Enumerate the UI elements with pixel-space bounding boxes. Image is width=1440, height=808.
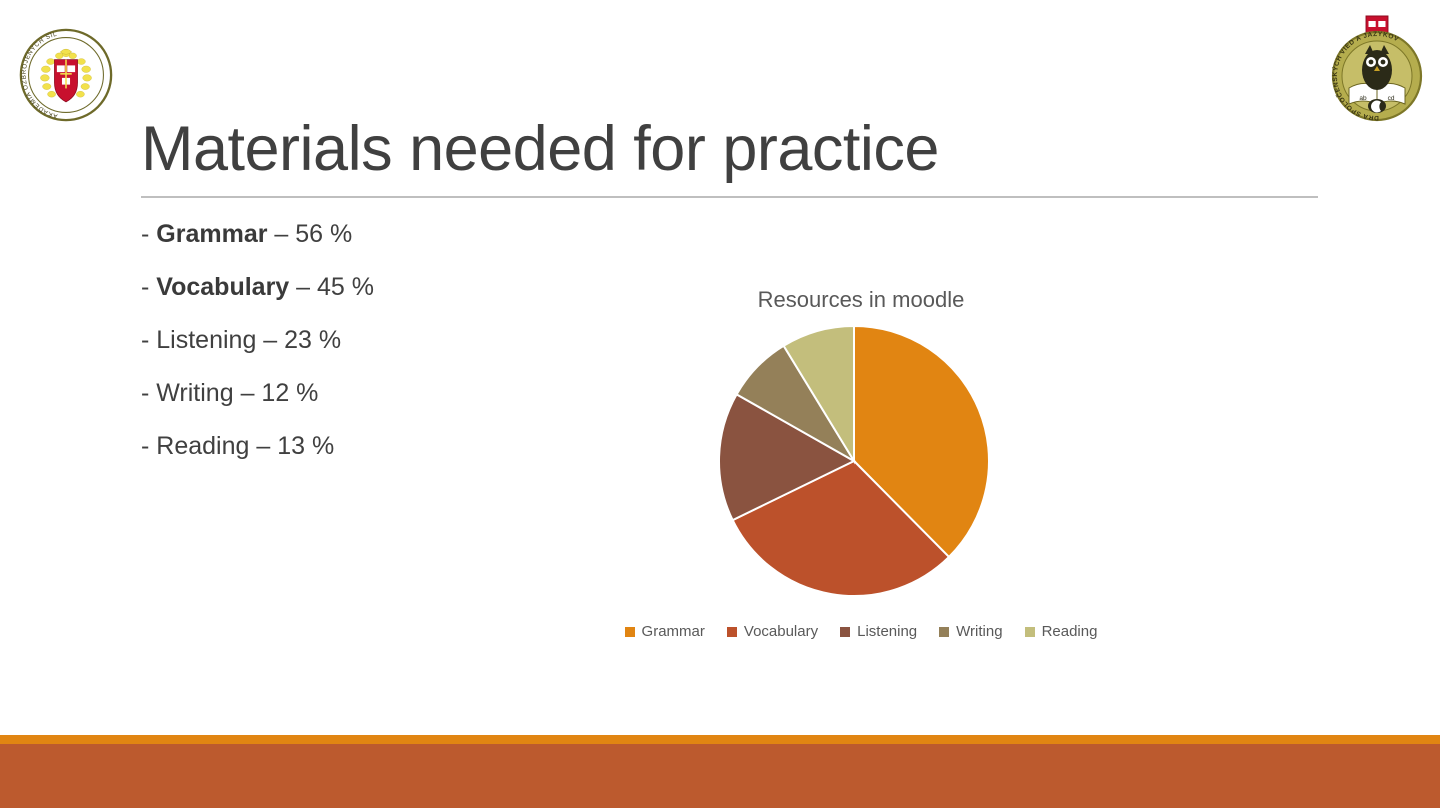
list-item-topic: Listening	[156, 326, 256, 354]
legend-swatch-icon	[840, 627, 850, 637]
pie-slices	[719, 326, 989, 596]
list-item-prefix: -	[141, 379, 156, 407]
chart-title: Resources in moodle	[612, 283, 1110, 317]
page-title: Materials needed for practice	[141, 116, 1321, 182]
list-item-value: 13 %	[277, 432, 334, 460]
list-item-topic: Reading	[156, 432, 249, 460]
armed-forces-academy-seal-logo: AKADÉMIA OZBROJENÝCH SÍL GENERÁLA MILANA…	[18, 27, 114, 123]
svg-text:ab: ab	[1359, 95, 1367, 102]
list-item-separator: –	[267, 220, 295, 248]
list-item-topic: Writing	[156, 379, 233, 407]
department-seal-logo: KATEDRA SPOLOČENSKÝCH VIED A JAZYKOV ab …	[1325, 14, 1429, 124]
footer-band	[0, 744, 1440, 808]
svg-text:cd: cd	[1388, 95, 1395, 102]
legend-swatch-icon	[625, 627, 635, 637]
list-item: - Writing – 12 %	[141, 381, 611, 406]
list-item: - Reading – 13 %	[141, 434, 611, 459]
legend-swatch-icon	[727, 627, 737, 637]
seal-right-icon: KATEDRA SPOLOČENSKÝCH VIED A JAZYKOV ab …	[1325, 14, 1429, 124]
legend-item-listening: Listening	[840, 623, 917, 640]
list-item-topic: Grammar	[156, 220, 267, 248]
footer-accent-stripe	[0, 735, 1440, 744]
legend-label: Vocabulary	[744, 623, 818, 640]
list-item-prefix: -	[141, 220, 156, 248]
list-item-separator: –	[289, 273, 317, 301]
slide: AKADÉMIA OZBROJENÝCH SÍL GENERÁLA MILANA…	[0, 0, 1440, 808]
legend-swatch-icon	[1025, 627, 1035, 637]
list-item: - Listening – 23 %	[141, 328, 611, 353]
title-block: Materials needed for practice	[141, 116, 1321, 198]
legend-swatch-icon	[939, 627, 949, 637]
legend-label: Grammar	[642, 623, 705, 640]
legend-item-vocabulary: Vocabulary	[727, 623, 818, 640]
list-item-value: 45 %	[317, 273, 374, 301]
list-item: - Vocabulary – 45 %	[141, 275, 611, 300]
chart-legend: GrammarVocabularyListeningWritingReading	[612, 623, 1110, 640]
list-item-prefix: -	[141, 326, 156, 354]
list-item-value: 12 %	[261, 379, 318, 407]
legend-label: Listening	[857, 623, 917, 640]
title-divider	[141, 196, 1318, 198]
list-item-prefix: -	[141, 432, 156, 460]
list-item-separator: –	[234, 379, 262, 407]
pie-svg	[612, 317, 1110, 607]
legend-label: Writing	[956, 623, 1002, 640]
svg-text:GENERÁLA MILANA RASTISLAVA ŠTE: GENERÁLA MILANA RASTISLAVA ŠTEFÁNIKA	[18, 27, 20, 28]
list-item-value: 56 %	[295, 220, 352, 248]
list-item-value: 23 %	[284, 326, 341, 354]
list-item-prefix: -	[141, 273, 156, 301]
list-item-separator: –	[256, 326, 284, 354]
legend-item-grammar: Grammar	[625, 623, 705, 640]
seal-left-icon: AKADÉMIA OZBROJENÝCH SÍL GENERÁLA MILANA…	[18, 27, 114, 123]
list-item-separator: –	[249, 432, 277, 460]
legend-item-writing: Writing	[939, 623, 1002, 640]
pie-plot-area	[612, 317, 1110, 607]
resources-pie-chart: Resources in moodle GrammarVocabularyLis…	[612, 283, 1110, 658]
list-item-topic: Vocabulary	[156, 273, 289, 301]
list-item: - Grammar – 56 %	[141, 222, 611, 247]
legend-item-reading: Reading	[1025, 623, 1098, 640]
legend-label: Reading	[1042, 623, 1098, 640]
materials-list: - Grammar – 56 % - Vocabulary – 45 % - L…	[141, 222, 611, 487]
